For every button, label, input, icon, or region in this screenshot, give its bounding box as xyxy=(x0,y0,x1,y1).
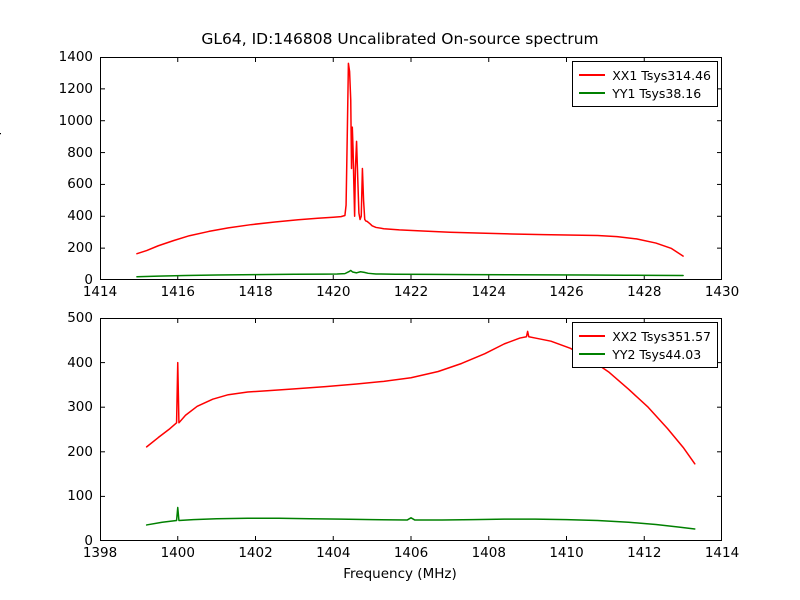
legend-line-swatch xyxy=(579,335,605,337)
page-title: GL64, ID:146808 Uncalibrated On-source s… xyxy=(0,30,800,48)
x-tick-label: 1400 xyxy=(161,545,195,561)
y-tick-label: 1200 xyxy=(59,81,93,97)
series-line xyxy=(147,508,695,529)
legend-line-swatch xyxy=(579,74,605,76)
y-tick-label: 800 xyxy=(67,145,93,161)
y-tick-label: 0 xyxy=(84,533,93,549)
plot-panel-top: XX1 Tsys314.46YY1 Tsys38.16 xyxy=(100,57,722,280)
x-tick-label: 1404 xyxy=(316,545,350,561)
y-tick-label: 400 xyxy=(67,208,93,224)
plot-panel-bottom: XX2 Tsys351.57YY2 Tsys44.03 xyxy=(100,318,722,541)
legend-line-swatch xyxy=(579,92,605,94)
x-tick-label: 1424 xyxy=(472,284,506,300)
legend-entry: YY2 Tsys44.03 xyxy=(579,345,711,363)
y-tick-label: 400 xyxy=(67,355,93,371)
legend-label: YY2 Tsys44.03 xyxy=(612,347,701,362)
y-tick-label: 300 xyxy=(67,399,93,415)
x-tick-label: 1428 xyxy=(627,284,661,300)
legend-label: XX2 Tsys351.57 xyxy=(612,329,711,344)
legend-top: XX1 Tsys314.46YY1 Tsys38.16 xyxy=(572,61,718,107)
legend-entry: XX1 Tsys314.46 xyxy=(579,66,711,84)
y-tick-label: 0 xyxy=(84,272,93,288)
series-line xyxy=(137,270,683,276)
legend-entry: XX2 Tsys351.57 xyxy=(579,327,711,345)
x-tick-label: 1426 xyxy=(549,284,583,300)
legend-entry: YY1 Tsys38.16 xyxy=(579,84,711,102)
x-tick-label: 1430 xyxy=(705,284,739,300)
legend-line-swatch xyxy=(579,353,605,355)
x-tick-label: 1418 xyxy=(238,284,272,300)
x-axis-label-bottom: Frequency (MHz) xyxy=(0,566,800,582)
x-tick-label: 1402 xyxy=(238,545,272,561)
x-tick-label: 1416 xyxy=(161,284,195,300)
y-tick-label: 1000 xyxy=(59,113,93,129)
y-tick-label: 100 xyxy=(67,488,93,504)
spectrum-figure: GL64, ID:146808 Uncalibrated On-source s… xyxy=(0,0,800,600)
x-tick-label: 1408 xyxy=(472,545,506,561)
legend-bottom: XX2 Tsys351.57YY2 Tsys44.03 xyxy=(572,322,718,368)
x-tick-label: 1422 xyxy=(394,284,428,300)
y-tick-label: 200 xyxy=(67,240,93,256)
y-tick-label: 200 xyxy=(67,444,93,460)
y-tick-label: 500 xyxy=(67,310,93,326)
x-tick-label: 1410 xyxy=(549,545,583,561)
y-tick-label: 1400 xyxy=(59,49,93,65)
x-tick-label: 1414 xyxy=(705,545,739,561)
legend-label: YY1 Tsys38.16 xyxy=(612,86,701,101)
x-tick-label: 1420 xyxy=(316,284,350,300)
y-tick-label: 600 xyxy=(67,176,93,192)
x-tick-label: 1406 xyxy=(394,545,428,561)
y-axis-label-top: Uncalibrated amplitude xyxy=(0,89,2,248)
legend-label: XX1 Tsys314.46 xyxy=(612,68,711,83)
x-tick-label: 1412 xyxy=(627,545,661,561)
